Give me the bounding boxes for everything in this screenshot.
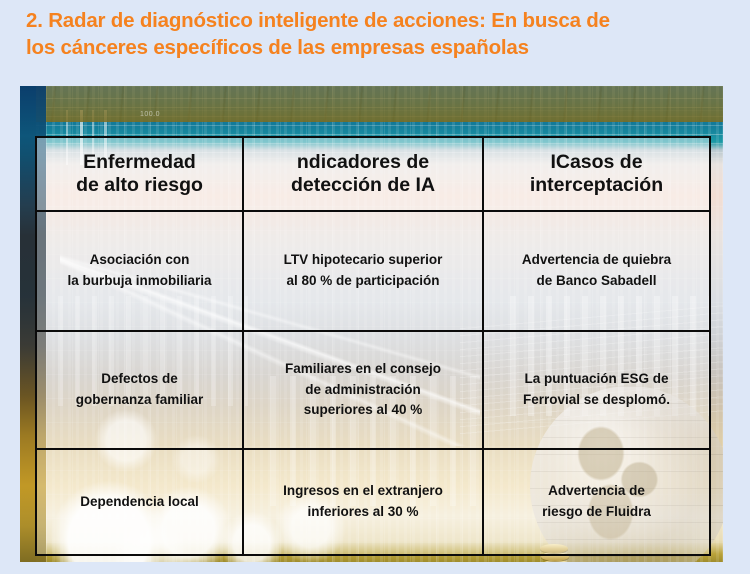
column-header-indicator: ndicadores de detección de IA	[243, 137, 483, 211]
chart-axis-label: 100.0	[140, 111, 160, 118]
table-header-row: Enfermedad de alto riesgo ndicadores de …	[36, 137, 710, 211]
cell-case-3: Advertencia de riesgo de Fluidra	[483, 449, 710, 555]
cell-disease-2: Defectos de gobernanza familiar	[36, 331, 243, 449]
cell-indicator-1: LTV hipotecario superior al 80 % de part…	[243, 211, 483, 331]
column-header-case: ICasos de interceptación	[483, 137, 710, 211]
cell-disease-3: Dependencia local	[36, 449, 243, 555]
cell-indicator-3: Ingresos en el extranjero inferiores al …	[243, 449, 483, 555]
table-row: Asociación con la burbuja inmobiliaria L…	[36, 211, 710, 331]
table-row: Dependencia local Ingresos en el extranj…	[36, 449, 710, 555]
cell-disease-1: Asociación con la burbuja inmobiliaria	[36, 211, 243, 331]
column-header-disease: Enfermedad de alto riesgo	[36, 137, 243, 211]
cell-indicator-2: Familiares en el consejo de administraci…	[243, 331, 483, 449]
page-title: 2. Radar de diagnóstico inteligente de a…	[26, 8, 726, 61]
wooden-desk-shade	[20, 86, 723, 122]
cell-case-2: La puntuación ESG de Ferrovial se desplo…	[483, 331, 710, 449]
table-row: Defectos de gobernanza familiar Familiar…	[36, 331, 710, 449]
risk-diagnostic-table: Enfermedad de alto riesgo ndicadores de …	[35, 136, 711, 556]
cell-case-1: Advertencia de quiebra de Banco Sabadell	[483, 211, 710, 331]
slide-image: 100.0 Enfermedad de alto riesgo ndicador…	[20, 86, 723, 562]
